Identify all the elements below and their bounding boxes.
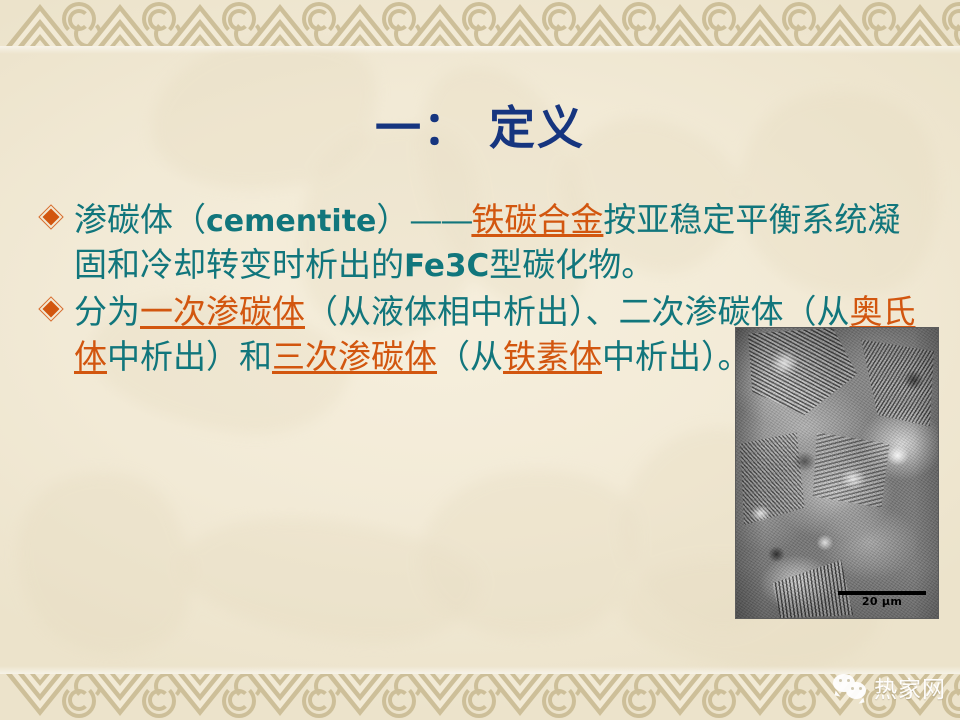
border-ornament-tile <box>560 0 640 46</box>
brand-name: 热家网 <box>874 670 946 704</box>
term-cementite: cementite <box>206 204 376 239</box>
text-segment: 、二次渗碳体（从 <box>586 292 850 331</box>
border-ornament-tile <box>400 674 480 720</box>
formula-fe3c: Fe3C <box>404 248 489 284</box>
border-ornament-tile <box>0 674 80 720</box>
border-ornament-tile <box>0 0 80 46</box>
border-ornament-tile <box>320 674 400 720</box>
scale-bar: 20 µm <box>836 591 928 608</box>
border-ornament-tile <box>240 674 320 720</box>
scale-bar-label: 20 µm <box>836 596 928 608</box>
text-segment: ） <box>376 200 409 239</box>
diamond-bullet-icon <box>42 207 62 227</box>
link-tertiary-cementite[interactable]: 三次渗碳体 <box>272 337 437 376</box>
text-segment: 渗碳体（ <box>74 200 206 239</box>
border-ornament-tile <box>160 0 240 46</box>
border-ornament-tile <box>480 674 560 720</box>
border-ornament-tile <box>240 0 320 46</box>
text-segment: （从 <box>437 337 503 376</box>
presentation-slide: 一： 定义 渗碳体（cementite）——铁碳合金按亚稳定平衡系统凝固和冷却转… <box>0 0 960 720</box>
border-ornament-tile <box>800 0 880 46</box>
text-segment: （从液体相中析出） <box>305 292 586 331</box>
steel-microstructure-image: 20 µm <box>736 328 938 618</box>
border-ornament-tile <box>160 674 240 720</box>
border-ornament-tile <box>80 674 160 720</box>
link-primary-cementite[interactable]: 一次渗碳体 <box>140 292 305 331</box>
wechat-icon <box>833 674 867 701</box>
border-ornament-tile <box>880 0 960 46</box>
brand-watermark: 热家网 <box>833 670 946 704</box>
border-ornament-tile <box>720 674 800 720</box>
border-ornament-tile <box>560 674 640 720</box>
link-iron-carbon-alloy[interactable]: 铁碳合金 <box>471 200 603 239</box>
text-segment: 中析出）。 <box>602 337 751 376</box>
text-segment: 型碳化物。 <box>489 245 654 284</box>
border-ornament-tile <box>480 0 560 46</box>
top-decorative-border <box>0 0 960 46</box>
diamond-bullet-icon <box>42 299 62 319</box>
border-ornament-tile <box>400 0 480 46</box>
micrograph-edge-shading <box>736 328 938 618</box>
bottom-border-sheen <box>0 666 960 674</box>
text-segment: 分为 <box>74 292 140 331</box>
bottom-decorative-border <box>0 674 960 720</box>
border-ornament-tile <box>640 674 720 720</box>
border-ornament-tile <box>640 0 720 46</box>
top-border-sheen <box>0 46 960 54</box>
border-ornament-tile <box>320 0 400 46</box>
slide-title: 一： 定义 <box>0 92 960 158</box>
border-ornament-tile <box>720 0 800 46</box>
em-dash: —— <box>409 200 471 239</box>
link-ferrite[interactable]: 铁素体 <box>503 337 602 376</box>
text-segment: 中析出）和 <box>107 337 272 376</box>
bullet-paragraph-definition: 渗碳体（cementite）——铁碳合金按亚稳定平衡系统凝固和冷却转变时析出的F… <box>40 198 930 288</box>
border-ornament-tile <box>80 0 160 46</box>
